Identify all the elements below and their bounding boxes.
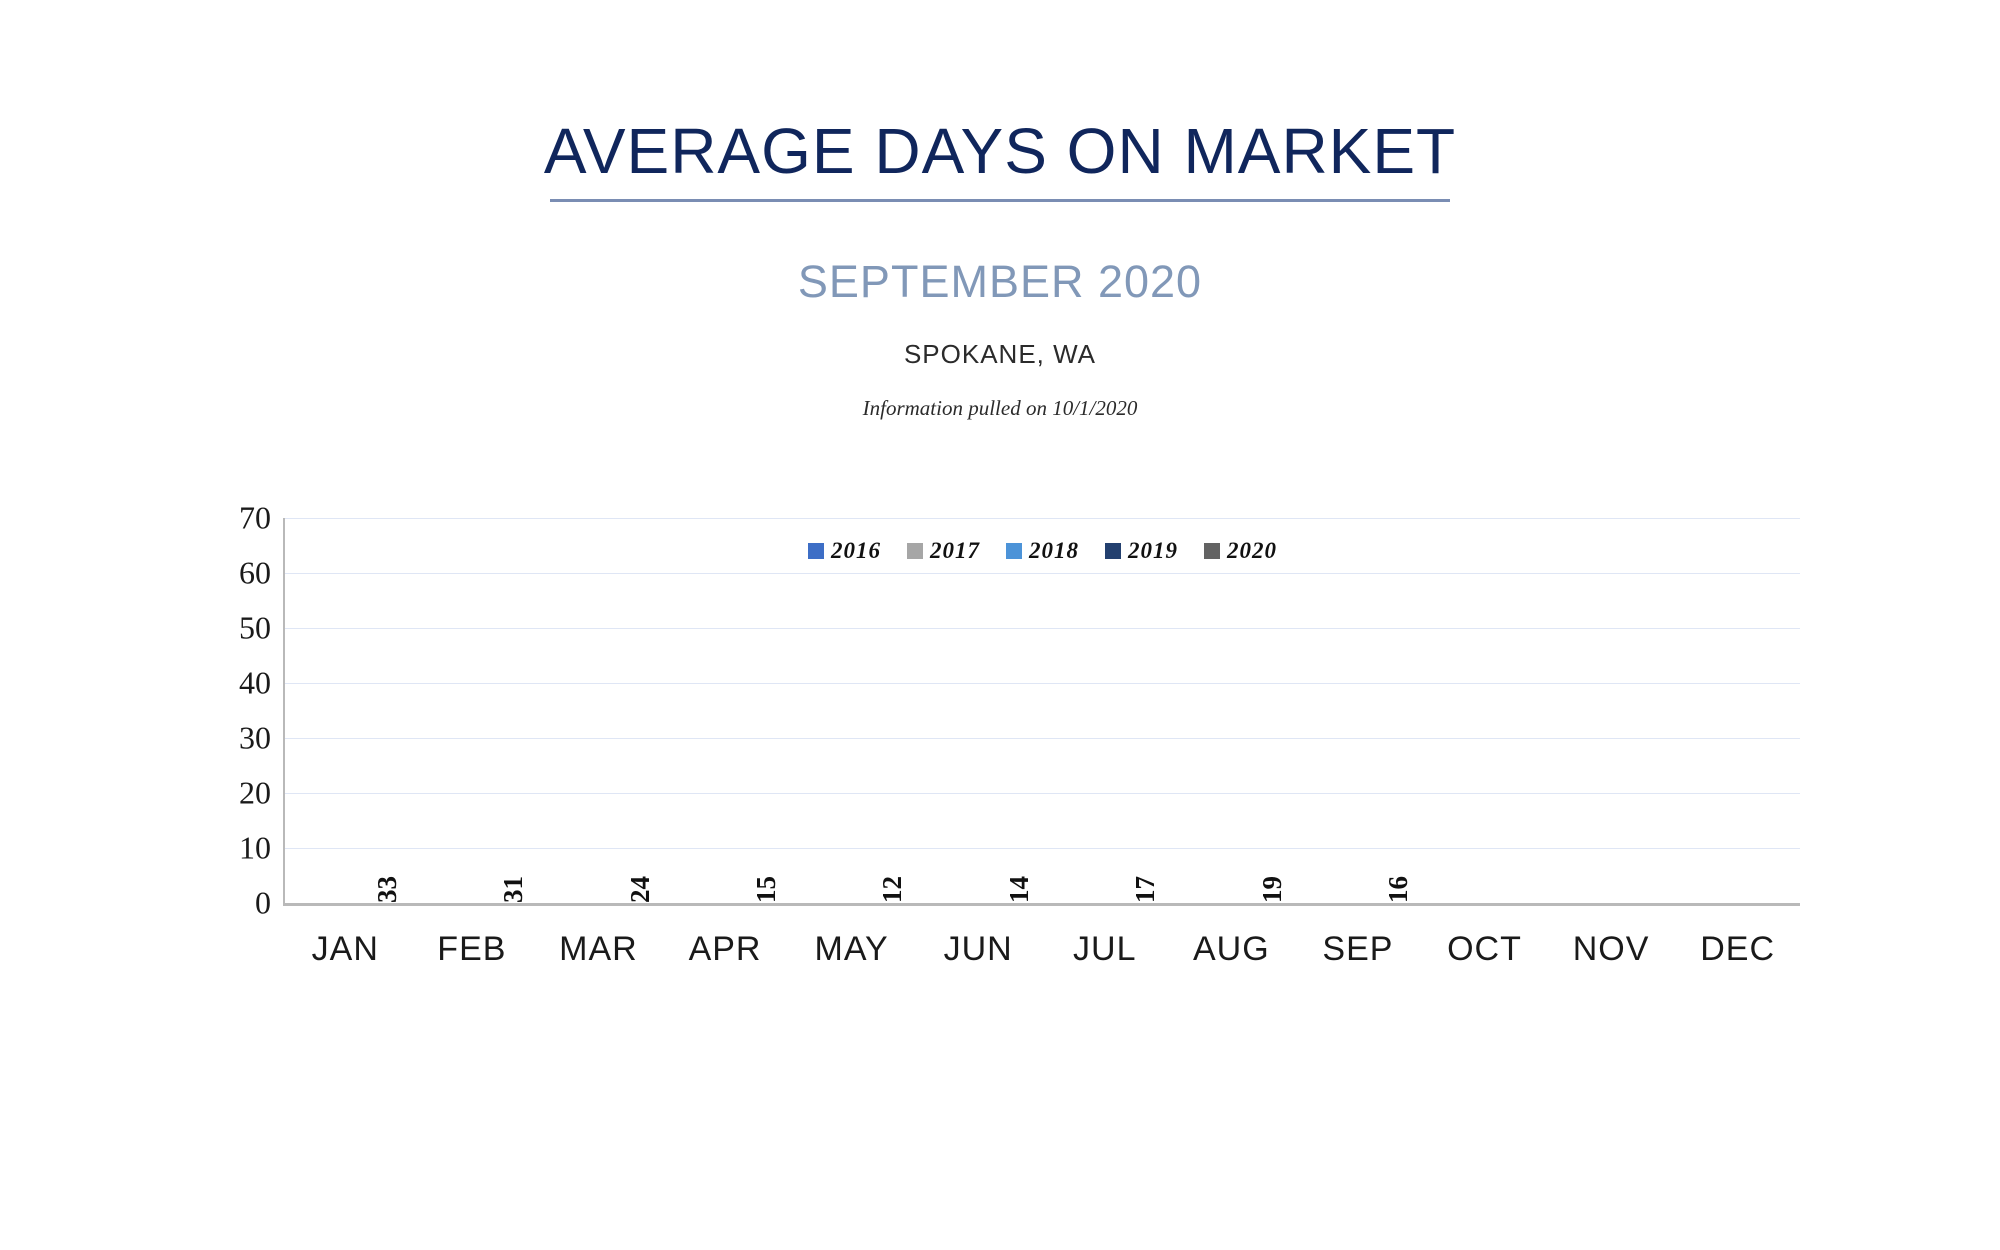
legend-label: 2017 [930,538,980,564]
bar-chart: 706050403020100 20162017201820192020 333… [205,518,1800,918]
bar-data-label: 33 [372,876,403,903]
bar-groups: 333124151214171916 [285,518,1800,903]
bar-group-jan: 33 [291,518,403,903]
y-axis-tick-label: 20 [239,775,271,812]
legend-item-2016[interactable]: 2016 [808,538,881,564]
legend-swatch-icon [1204,543,1220,559]
bar-data-label: 24 [625,876,656,903]
chart-legend: 20162017201820192020 [285,538,1800,564]
bar-group-oct [1429,518,1541,903]
legend-item-2017[interactable]: 2017 [907,538,980,564]
x-axis-label-apr: APR [669,930,782,969]
x-axis-label-mar: MAR [542,930,655,969]
y-axis-tick-label: 10 [239,830,271,867]
bar-data-label: 15 [751,876,782,903]
bar-data-label: 16 [1383,876,1414,903]
chart-source-note: Information pulled on 10/1/2020 [0,396,2000,421]
page-title: AVERAGE DAYS ON MARKET [0,0,2000,185]
x-axis-label-sep: SEP [1302,930,1415,969]
y-axis-tick-label: 40 [239,665,271,702]
legend-label: 2020 [1227,538,1277,564]
y-axis-tick-label: 70 [239,500,271,537]
legend-label: 2016 [831,538,881,564]
bar-group-apr: 15 [670,518,782,903]
bar-group-may: 12 [797,518,909,903]
legend-swatch-icon [1105,543,1121,559]
y-axis-tick-label: 30 [239,720,271,757]
legend-swatch-icon [907,543,923,559]
x-axis-label-feb: FEB [416,930,529,969]
chart-subtitle: SEPTEMBER 2020 [0,258,2000,305]
title-underline-rule [550,199,1450,202]
plot-area: 706050403020100 20162017201820192020 333… [283,518,1800,906]
x-axis-label-dec: DEC [1681,930,1794,969]
legend-label: 2018 [1029,538,1079,564]
legend-label: 2019 [1128,538,1178,564]
x-axis-label-nov: NOV [1555,930,1668,969]
bar-data-label: 12 [877,876,908,903]
x-axis-label-aug: AUG [1175,930,1288,969]
legend-item-2020[interactable]: 2020 [1204,538,1277,564]
bar-group-aug: 19 [1176,518,1288,903]
x-axis-label-jun: JUN [922,930,1035,969]
bar-data-label: 19 [1257,876,1288,903]
bar-group-sep: 16 [1302,518,1414,903]
bar-group-feb: 31 [417,518,529,903]
x-axis-label-jan: JAN [289,930,402,969]
x-axis-labels: JANFEBMARAPRMAYJUNJULAUGSEPOCTNOVDEC [283,930,1800,969]
chart-page: AVERAGE DAYS ON MARKET SEPTEMBER 2020 SP… [0,0,2000,1250]
bar-data-label: 31 [498,876,529,903]
legend-swatch-icon [808,543,824,559]
chart-location: SPOKANE, WA [0,339,2000,370]
bar-group-jun: 14 [923,518,1035,903]
legend-item-2018[interactable]: 2018 [1006,538,1079,564]
x-axis-label-may: MAY [795,930,908,969]
legend-swatch-icon [1006,543,1022,559]
bar-data-label: 17 [1130,876,1161,903]
chart-header: AVERAGE DAYS ON MARKET SEPTEMBER 2020 SP… [0,0,2000,421]
y-axis-tick-label: 0 [255,885,271,922]
y-axis-tick-label: 60 [239,555,271,592]
bar-group-nov [1555,518,1667,903]
bar-data-label: 14 [1004,876,1035,903]
legend-item-2019[interactable]: 2019 [1105,538,1178,564]
x-axis-label-oct: OCT [1428,930,1541,969]
bar-group-jul: 17 [1050,518,1162,903]
x-axis-label-jul: JUL [1048,930,1161,969]
y-axis-tick-label: 50 [239,610,271,647]
bar-group-mar: 24 [544,518,656,903]
bar-group-dec [1682,518,1794,903]
